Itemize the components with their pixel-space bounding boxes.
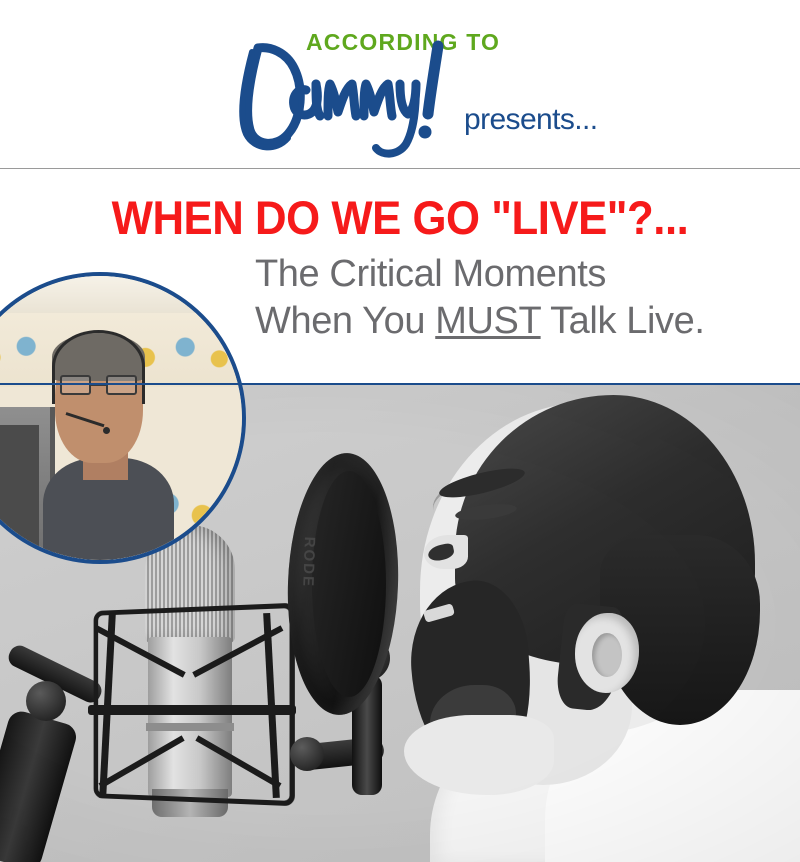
avatar-eyeglass-left (60, 375, 91, 395)
host-avatar-image (0, 276, 242, 560)
avatar-bg-door-panel (0, 425, 39, 557)
subtitle-emphasis-must: MUST (435, 300, 540, 342)
mount-support-knob (290, 737, 324, 771)
logo-band: ACCORDING TO (0, 0, 800, 169)
subtitle-line-2-before: When You (255, 300, 435, 342)
brand-logo[interactable]: ACCORDING TO (0, 0, 800, 169)
promo-slide: ACCORDING TO (0, 0, 800, 862)
avatar-headset-mic (103, 427, 110, 434)
shock-mount-crossbar (88, 705, 296, 715)
brand-presents-label: presents... (464, 103, 597, 137)
page-subtitle: The Critical Moments When You MUST Talk … (255, 251, 775, 345)
pop-filter-brand-label: RODE (299, 536, 318, 588)
boy-ear-canal (592, 633, 622, 677)
avatar-eyeglass-right (106, 375, 137, 395)
mic-arm-knob (26, 681, 66, 721)
subtitle-line-2: When You MUST Talk Live. (255, 298, 775, 345)
pop-filter-mesh (312, 471, 386, 697)
page-headline: WHEN DO WE GO "LIVE"?... (28, 193, 772, 243)
host-avatar[interactable] (0, 272, 246, 564)
subtitle-line-1: The Critical Moments (255, 251, 775, 298)
hero-top-divider-rule (0, 383, 800, 385)
subtitle-line-2-after: Talk Live. (541, 300, 705, 342)
danny-script-wordmark (228, 30, 468, 160)
